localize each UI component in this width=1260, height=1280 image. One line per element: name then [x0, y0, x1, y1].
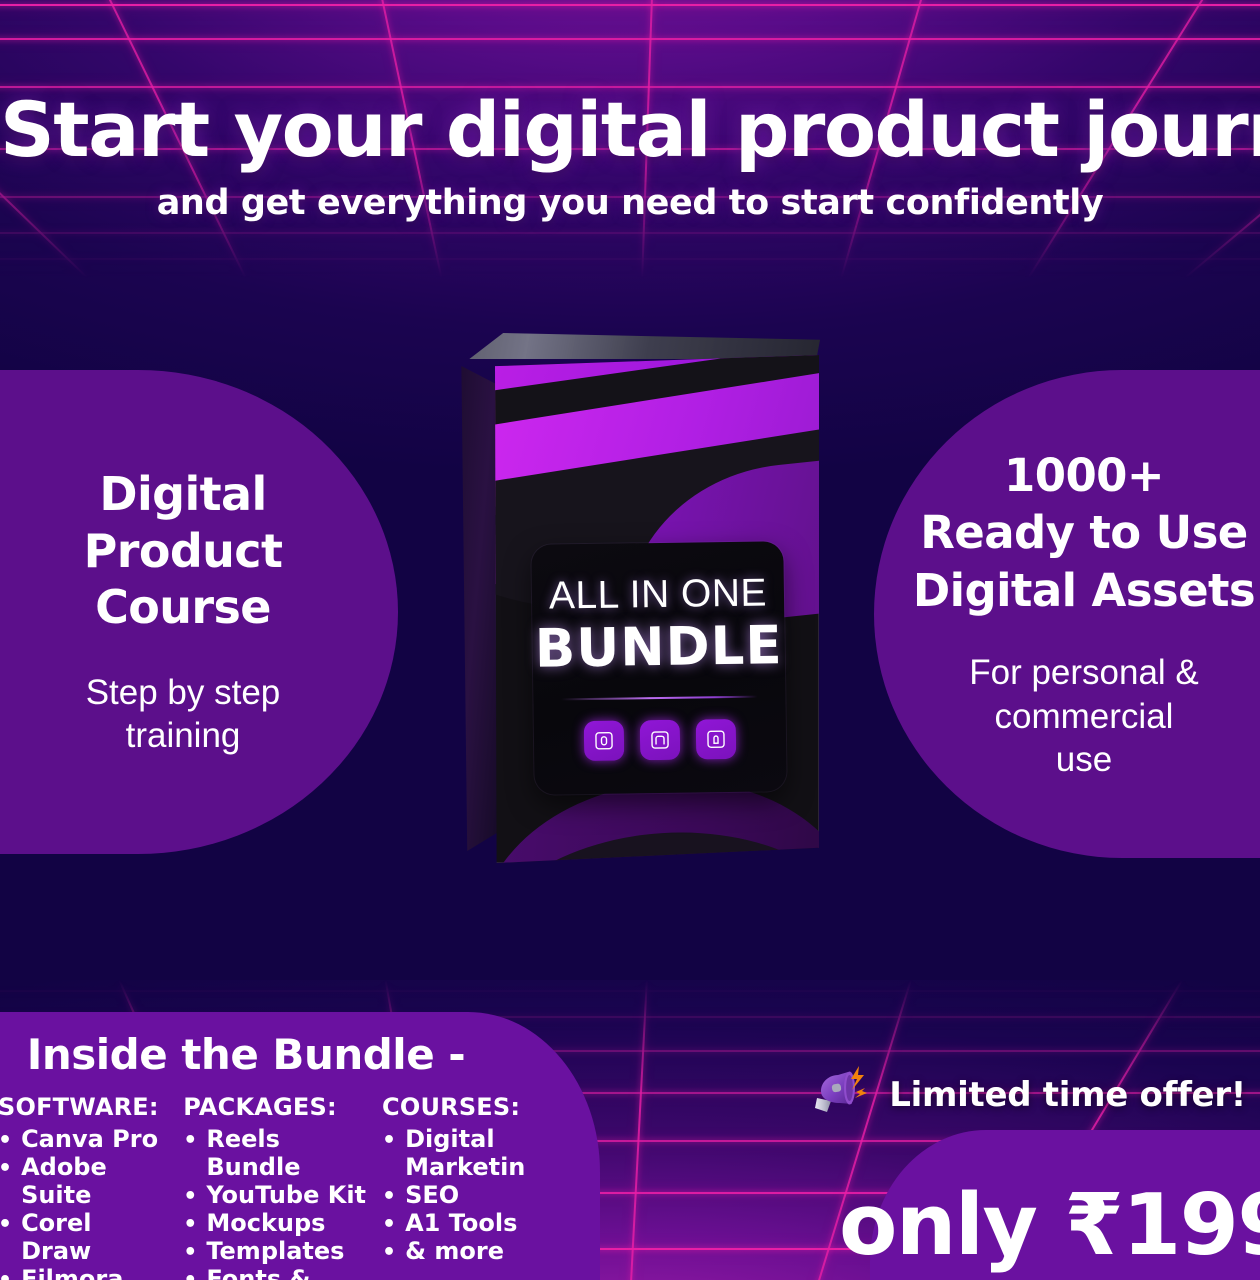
list-item: •Mockups: [183, 1209, 366, 1237]
box-label-divider: [561, 696, 757, 701]
list-item: •& more: [382, 1237, 584, 1265]
course-sub-line-2: training: [86, 714, 281, 757]
assets-title-line-1: 1000+: [913, 447, 1255, 505]
bullet-icon: •: [183, 1270, 197, 1280]
document-badge-icon: [584, 720, 625, 761]
assets-sub-line-3: use: [969, 738, 1199, 781]
list-item: •SEO: [382, 1181, 584, 1209]
bundle-item-label: Digital Marketin: [405, 1125, 584, 1181]
bundle-column: PACKAGES:•Reels Bundle•YouTube Kit•Mocku…: [183, 1093, 366, 1280]
course-title-line-3: Course: [84, 579, 283, 635]
bundle-item-label: Reels Bundle: [206, 1125, 366, 1181]
bullet-icon: •: [183, 1130, 197, 1152]
course-title-line-2: Product: [84, 523, 283, 579]
lock-badge-icon: [696, 719, 737, 760]
list-item: •Filmora: [0, 1265, 167, 1280]
bullet-icon: •: [183, 1214, 197, 1236]
bullet-icon: •: [382, 1130, 396, 1152]
bullet-icon: •: [183, 1242, 197, 1264]
box-label-line-1: ALL IN ONE: [549, 571, 768, 618]
bundle-item-label: Filmora: [21, 1265, 123, 1280]
bundle-item-label: Mockups: [206, 1209, 325, 1237]
assets-card-title: 1000+ Ready to Use Digital Assets: [913, 447, 1255, 620]
bundle-column-title: PACKAGES:: [183, 1093, 366, 1121]
list-item: •Digital Marketin: [382, 1125, 584, 1181]
bullet-icon: •: [382, 1186, 396, 1208]
bundle-item-label: Fonts & mor: [206, 1265, 366, 1280]
product-box-side-face: [458, 351, 500, 851]
price-label: only ₹199: [839, 1183, 1260, 1268]
inside-bundle-columns: SOFTWARE:•Canva Pro•Adobe Suite•Corel Dr…: [0, 1093, 600, 1280]
limited-offer-row: Limited time offer!: [807, 1062, 1246, 1128]
product-box-top-face: [464, 333, 820, 359]
limited-offer-label: Limited time offer!: [889, 1075, 1246, 1115]
product-box-mockup: ALL IN ONE BUNDLE: [448, 333, 820, 867]
bullet-icon: •: [382, 1242, 396, 1264]
product-box-front-face: ALL IN ONE BUNDLE: [495, 355, 819, 863]
bundle-item-label: Canva Pro: [21, 1125, 158, 1153]
list-item: •YouTube Kit: [183, 1181, 366, 1209]
list-item: •Fonts & mor: [183, 1265, 366, 1280]
bundle-item-list: •Digital Marketin•SEO•A1 Tools•& more: [382, 1125, 584, 1265]
assets-title-line-3: Digital Assets: [913, 562, 1255, 620]
megaphone-icon: [807, 1062, 877, 1128]
bundle-item-label: Templates: [206, 1237, 344, 1265]
course-card-title: Digital Product Course: [84, 466, 283, 634]
poster-canvas: Start your digital product journey and g…: [0, 0, 1260, 1280]
course-title-line-1: Digital: [84, 466, 283, 522]
bundle-item-label: Corel Draw: [21, 1209, 167, 1265]
assets-sub-line-2: commercial: [969, 695, 1199, 738]
box-badge-row: [584, 719, 737, 761]
bundle-item-label: & more: [405, 1237, 504, 1265]
bundle-item-label: SEO: [405, 1181, 459, 1209]
grid-horizontal-line: [0, 38, 1260, 40]
grid-horizontal-line: [0, 990, 1260, 992]
bundle-column: COURSES:•Digital Marketin•SEO•A1 Tools•&…: [382, 1093, 584, 1280]
bundle-item-label: A1 Tools: [405, 1209, 517, 1237]
inside-bundle-heading: Inside the Bundle -: [0, 1012, 600, 1079]
grid-horizontal-line: [0, 4, 1260, 6]
bullet-icon: •: [0, 1130, 12, 1152]
bundle-item-list: •Canva Pro•Adobe Suite•Corel Draw•Filmor…: [0, 1125, 167, 1280]
chart-badge-icon: [640, 720, 681, 761]
box-label-line-2: BUNDLE: [534, 619, 782, 675]
page-subtitle: and get everything you need to start con…: [0, 186, 1260, 221]
assets-card-subtitle: For personal & commercial use: [969, 651, 1199, 781]
inside-bundle-panel: Inside the Bundle - SOFTWARE:•Canva Pro•…: [0, 1012, 600, 1280]
grid-vertical-line: [625, 980, 652, 1280]
assets-sub-line-1: For personal &: [969, 651, 1199, 694]
list-item: •Adobe Suite: [0, 1153, 167, 1209]
grid-horizontal-line: [0, 258, 1260, 260]
bullet-icon: •: [183, 1186, 197, 1208]
bundle-column-title: SOFTWARE:: [0, 1093, 167, 1121]
bullet-icon: •: [382, 1214, 396, 1236]
bundle-column: SOFTWARE:•Canva Pro•Adobe Suite•Corel Dr…: [0, 1093, 167, 1280]
page-title: Start your digital product journey: [0, 94, 1260, 166]
list-item: •Templates: [183, 1237, 366, 1265]
bundle-column-title: COURSES:: [382, 1093, 584, 1121]
bundle-item-list: •Reels Bundle•YouTube Kit•Mockups•Templa…: [183, 1125, 366, 1280]
bullet-icon: •: [0, 1214, 12, 1236]
list-item: •A1 Tools: [382, 1209, 584, 1237]
list-item: •Corel Draw: [0, 1209, 167, 1265]
assets-title-line-2: Ready to Use: [913, 504, 1255, 562]
grid-horizontal-line: [0, 232, 1260, 234]
grid-horizontal-line: [0, 274, 1260, 276]
product-box-label-panel: ALL IN ONE BUNDLE: [531, 541, 786, 794]
list-item: •Reels Bundle: [183, 1125, 366, 1181]
course-card-subtitle: Step by step training: [86, 671, 281, 758]
course-sub-line-1: Step by step: [86, 671, 281, 714]
bullet-icon: •: [0, 1158, 12, 1180]
list-item: •Canva Pro: [0, 1125, 167, 1153]
bullet-icon: •: [0, 1270, 12, 1280]
bundle-item-label: YouTube Kit: [206, 1181, 366, 1209]
header-block: Start your digital product journey and g…: [0, 94, 1260, 221]
bundle-item-label: Adobe Suite: [21, 1153, 167, 1209]
price-panel: only ₹199: [870, 1130, 1260, 1280]
